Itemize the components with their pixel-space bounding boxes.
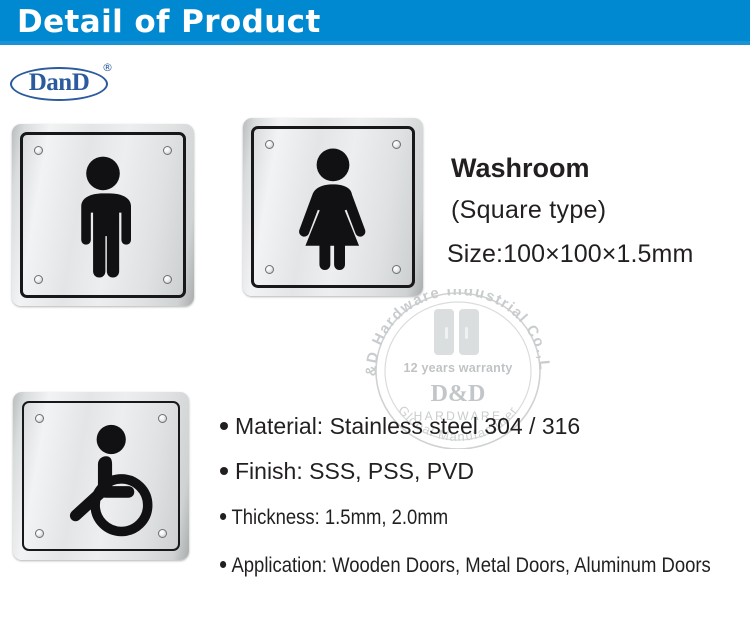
product-name: Washroom — [451, 148, 746, 188]
spec-item-finish: Finish: SSS, PSS, PVD — [220, 449, 750, 494]
bullet-icon — [220, 513, 226, 520]
registered-trademark-icon: ® — [102, 61, 113, 74]
specification-list: Material: Stainless steel 304 / 316 Fini… — [220, 404, 750, 590]
spec-item-application: Application: Wooden Doors, Metal Doors, … — [220, 542, 686, 590]
plate-frame — [20, 132, 186, 298]
brand-name: DanD — [10, 67, 108, 101]
bullet-icon — [220, 467, 228, 475]
female-washroom-sign-plate — [243, 118, 423, 296]
bullet-icon — [220, 561, 226, 568]
svg-text:D&D Hardware Industrial Co.,Lt: D&D Hardware Industrial Co.,Ltd — [358, 289, 553, 376]
spec-item-thickness: Thickness: 1.5mm, 2.0mm — [220, 494, 686, 542]
product-info-block: Washroom (Square type) Size:100×100×1.5m… — [451, 148, 746, 276]
page-title: Detail of Product — [17, 2, 321, 42]
spec-text: Application: Wooden Doors, Metal Doors, … — [231, 554, 710, 577]
plate-frame — [22, 401, 180, 551]
wheelchair-accessible-icon — [24, 403, 178, 549]
male-washroom-sign-plate — [12, 124, 194, 306]
watermark-ring-top: D&D Hardware Industrial Co.,Ltd — [358, 289, 553, 376]
spec-text: Material: Stainless steel 304 / 316 — [235, 413, 580, 439]
product-size: Size:100×100×1.5mm — [447, 232, 746, 276]
bullet-icon — [220, 422, 228, 430]
brand-logo: DanD ® — [10, 55, 130, 103]
watermark-door-emblem — [434, 309, 479, 355]
plate-frame — [251, 126, 415, 288]
spec-text: Thickness: 1.5mm, 2.0mm — [231, 506, 448, 529]
spec-item-material: Material: Stainless steel 304 / 316 — [220, 404, 750, 449]
female-restroom-icon — [254, 129, 412, 285]
accessible-washroom-sign-plate — [13, 392, 189, 560]
product-type: (Square type) — [451, 188, 746, 232]
header-bar: Detail of Product — [0, 0, 750, 44]
male-restroom-icon — [23, 135, 183, 295]
spec-text: Finish: SSS, PSS, PVD — [235, 458, 474, 484]
watermark-warranty: 12 years warranty — [358, 361, 558, 375]
